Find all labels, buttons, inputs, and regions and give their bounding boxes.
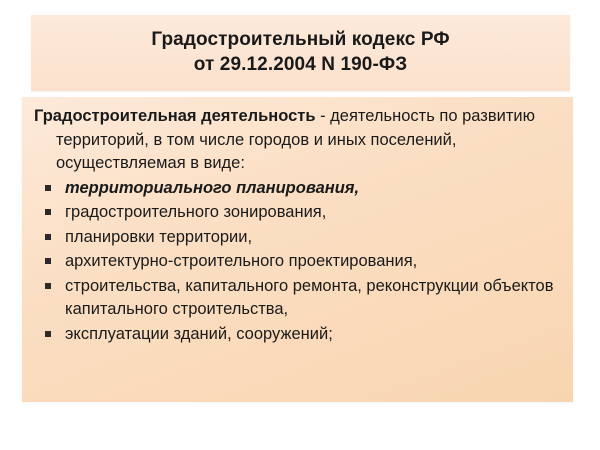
- list-item-label: территориального планирования,: [65, 179, 359, 197]
- list-item-label: эксплуатации зданий, сооружений;: [65, 325, 333, 343]
- square-bullet-icon: [45, 258, 51, 264]
- list-item: градостроительного зонирования,: [34, 201, 559, 225]
- slide-canvas: Градостроительный кодекс РФ от 29.12.200…: [0, 0, 600, 450]
- content-box: Градостроительная деятельность - деятель…: [22, 97, 573, 402]
- title-box: Градостроительный кодекс РФ от 29.12.200…: [31, 15, 570, 91]
- list-item: планировки территории,: [34, 226, 559, 250]
- list-item: территориального планирования,: [34, 177, 559, 201]
- square-bullet-icon: [45, 331, 51, 337]
- list-item-label: строительства, капитального ремонта, рек…: [65, 277, 554, 319]
- activity-types-list: территориального планирования, градостро…: [34, 177, 559, 347]
- square-bullet-icon: [45, 185, 51, 191]
- square-bullet-icon: [45, 209, 51, 215]
- list-item: эксплуатации зданий, сооружений;: [34, 323, 559, 347]
- list-item: архитектурно-строительного проектировани…: [34, 250, 559, 274]
- square-bullet-icon: [45, 283, 51, 289]
- list-item: строительства, капитального ремонта, рек…: [34, 275, 559, 322]
- square-bullet-icon: [45, 234, 51, 240]
- definition-paragraph: Градостроительная деятельность - деятель…: [34, 105, 559, 176]
- list-item-label: градостроительного зонирования,: [65, 203, 326, 221]
- definition-term: Градостроительная деятельность: [34, 107, 316, 125]
- list-item-label: архитектурно-строительного проектировани…: [65, 252, 417, 270]
- title-line-1: Градостроительный кодекс РФ: [151, 27, 449, 52]
- title-line-2: от 29.12.2004 N 190-ФЗ: [194, 52, 407, 77]
- list-item-label: планировки территории,: [65, 228, 252, 246]
